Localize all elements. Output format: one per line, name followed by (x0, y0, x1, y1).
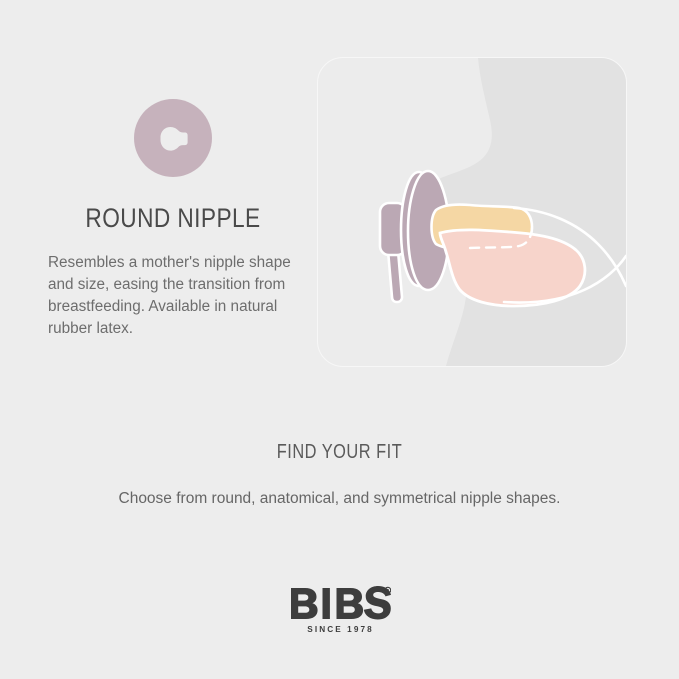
logo-tagline: SINCE 1978 (305, 625, 374, 634)
tongue (440, 230, 585, 306)
feature-highlight-section: ROUND NIPPLE Resembles a mother's nipple… (0, 0, 679, 395)
round-nipple-feature-panel: ROUND NIPPLE Resembles a mother's nipple… (48, 86, 298, 340)
baby-mouth-cross-section-diagram (318, 58, 626, 366)
feature-description: Resembles a mother's nipple shape and si… (48, 252, 296, 341)
feature-icon-container (48, 86, 298, 190)
illustration-card (317, 57, 627, 367)
heart-icon (299, 595, 305, 600)
find-your-fit-subtitle: Choose from round, anatomical, and symme… (0, 488, 679, 510)
brand-logo-block: R SINCE 1978 (0, 586, 679, 634)
product-infographic-page: ROUND NIPPLE Resembles a mother's nipple… (0, 0, 679, 679)
feature-title: ROUND NIPPLE (68, 204, 278, 234)
bibs-logo-wordmark: R (289, 586, 391, 620)
round-nipple-shape-icon (134, 99, 212, 177)
find-your-fit-section: FIND YOUR FIT Choose from round, anatomi… (0, 440, 679, 510)
find-your-fit-title: FIND YOUR FIT (61, 440, 618, 464)
svg-text:R: R (386, 588, 389, 593)
